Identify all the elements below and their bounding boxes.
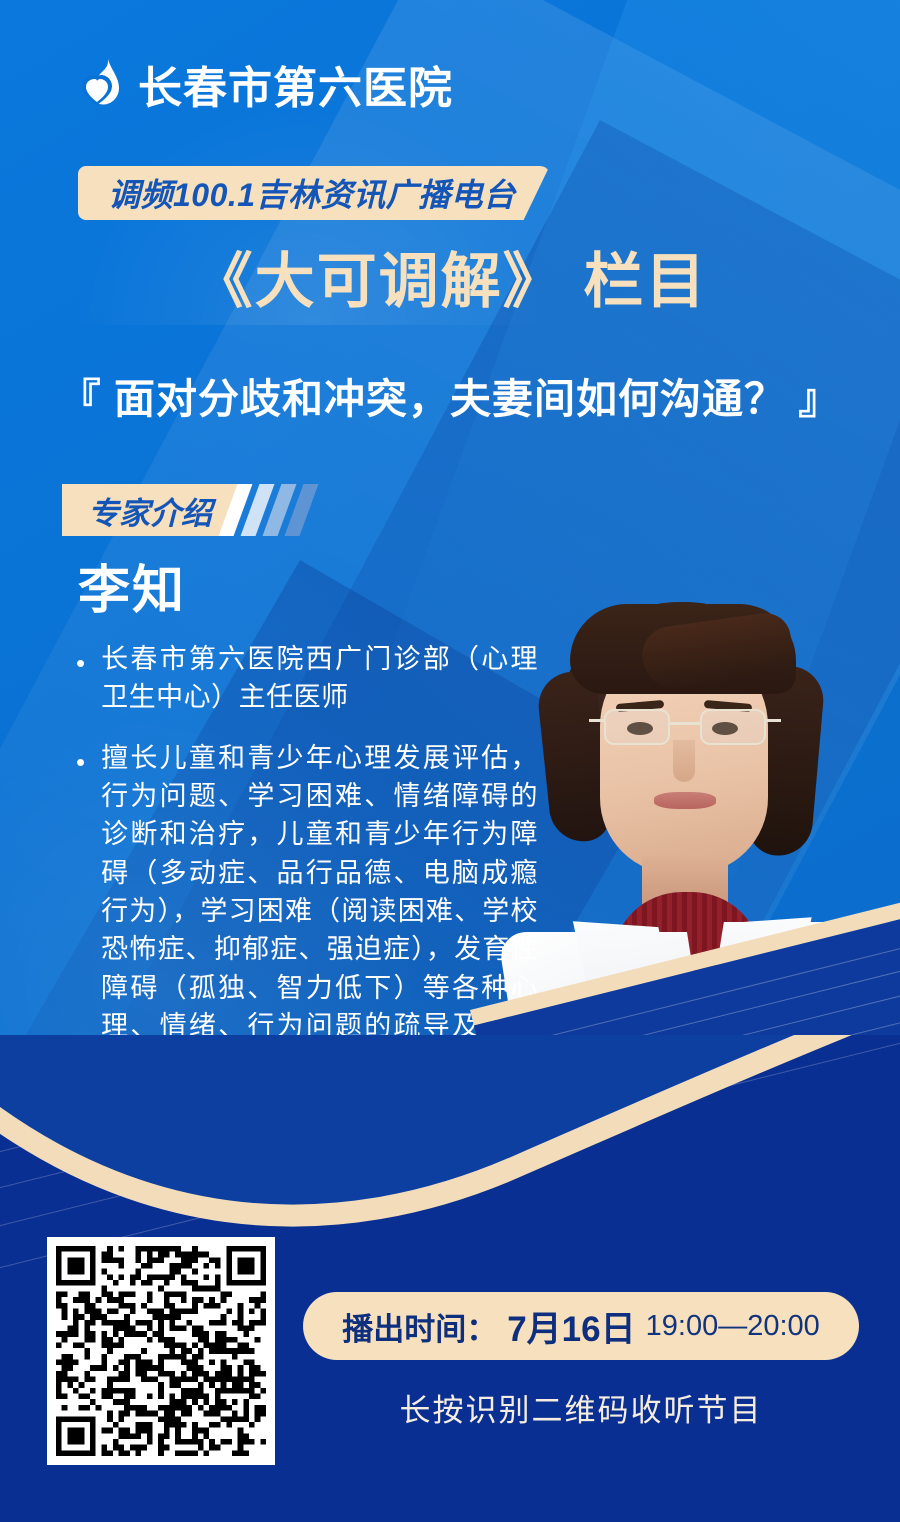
- bio-bullet-text: 长春市第六医院西广门诊部（心理卫生中心）主任医师: [101, 640, 538, 717]
- bio-bullet-item: • 长春市第六医院西广门诊部（心理卫生中心）主任医师: [68, 640, 538, 717]
- listen-qr-code[interactable]: [47, 1237, 275, 1465]
- expert-intro-tag-row: 专家介绍: [62, 484, 316, 536]
- bullet-dot-icon: •: [76, 650, 85, 717]
- flame-heart-logo-icon: [78, 58, 124, 110]
- slash-decoration: [228, 484, 316, 536]
- expert-intro-label: 专家介绍: [88, 488, 212, 533]
- broadcast-hours: 19:00—20:00: [646, 1310, 820, 1343]
- bullet-dot-icon: •: [76, 749, 85, 1084]
- poster-root: 长春市第六医院 调频100.1吉林资讯广播电台 《大可调解》 栏目 『 面对分歧…: [0, 0, 900, 1522]
- bio-bullet-text: 擅长儿童和青少年心理发展评估，行为问题、学习困难、情绪障碍的诊断和治疗，儿童和青…: [101, 739, 538, 1084]
- expert-name: 李知: [78, 548, 186, 623]
- broadcast-time-pill: 播出时间： 7月16日 19:00—20:00: [303, 1292, 859, 1360]
- hospital-header: 长春市第六医院: [78, 52, 453, 116]
- broadcast-time-label: 播出时间：: [342, 1304, 497, 1349]
- expert-intro-tag: 专家介绍: [62, 484, 242, 536]
- radio-station-ribbon: 调频100.1吉林资讯广播电台: [78, 166, 550, 220]
- brand-name: 长春市第六医院: [138, 52, 453, 116]
- radio-station-text: 调频100.1吉林资讯广播电台: [108, 170, 516, 216]
- topic-title: 『 面对分歧和冲突，夫妻间如何沟通？ 』: [0, 365, 900, 425]
- bio-bullet-item: • 擅长儿童和青少年心理发展评估，行为问题、学习困难、情绪障碍的诊断和治疗，儿童…: [68, 739, 538, 1084]
- program-title: 《大可调解》 栏目: [0, 233, 900, 320]
- qr-cta-text: 长按识别二维码收听节目: [303, 1385, 859, 1430]
- broadcast-date: 7月16日: [507, 1301, 635, 1352]
